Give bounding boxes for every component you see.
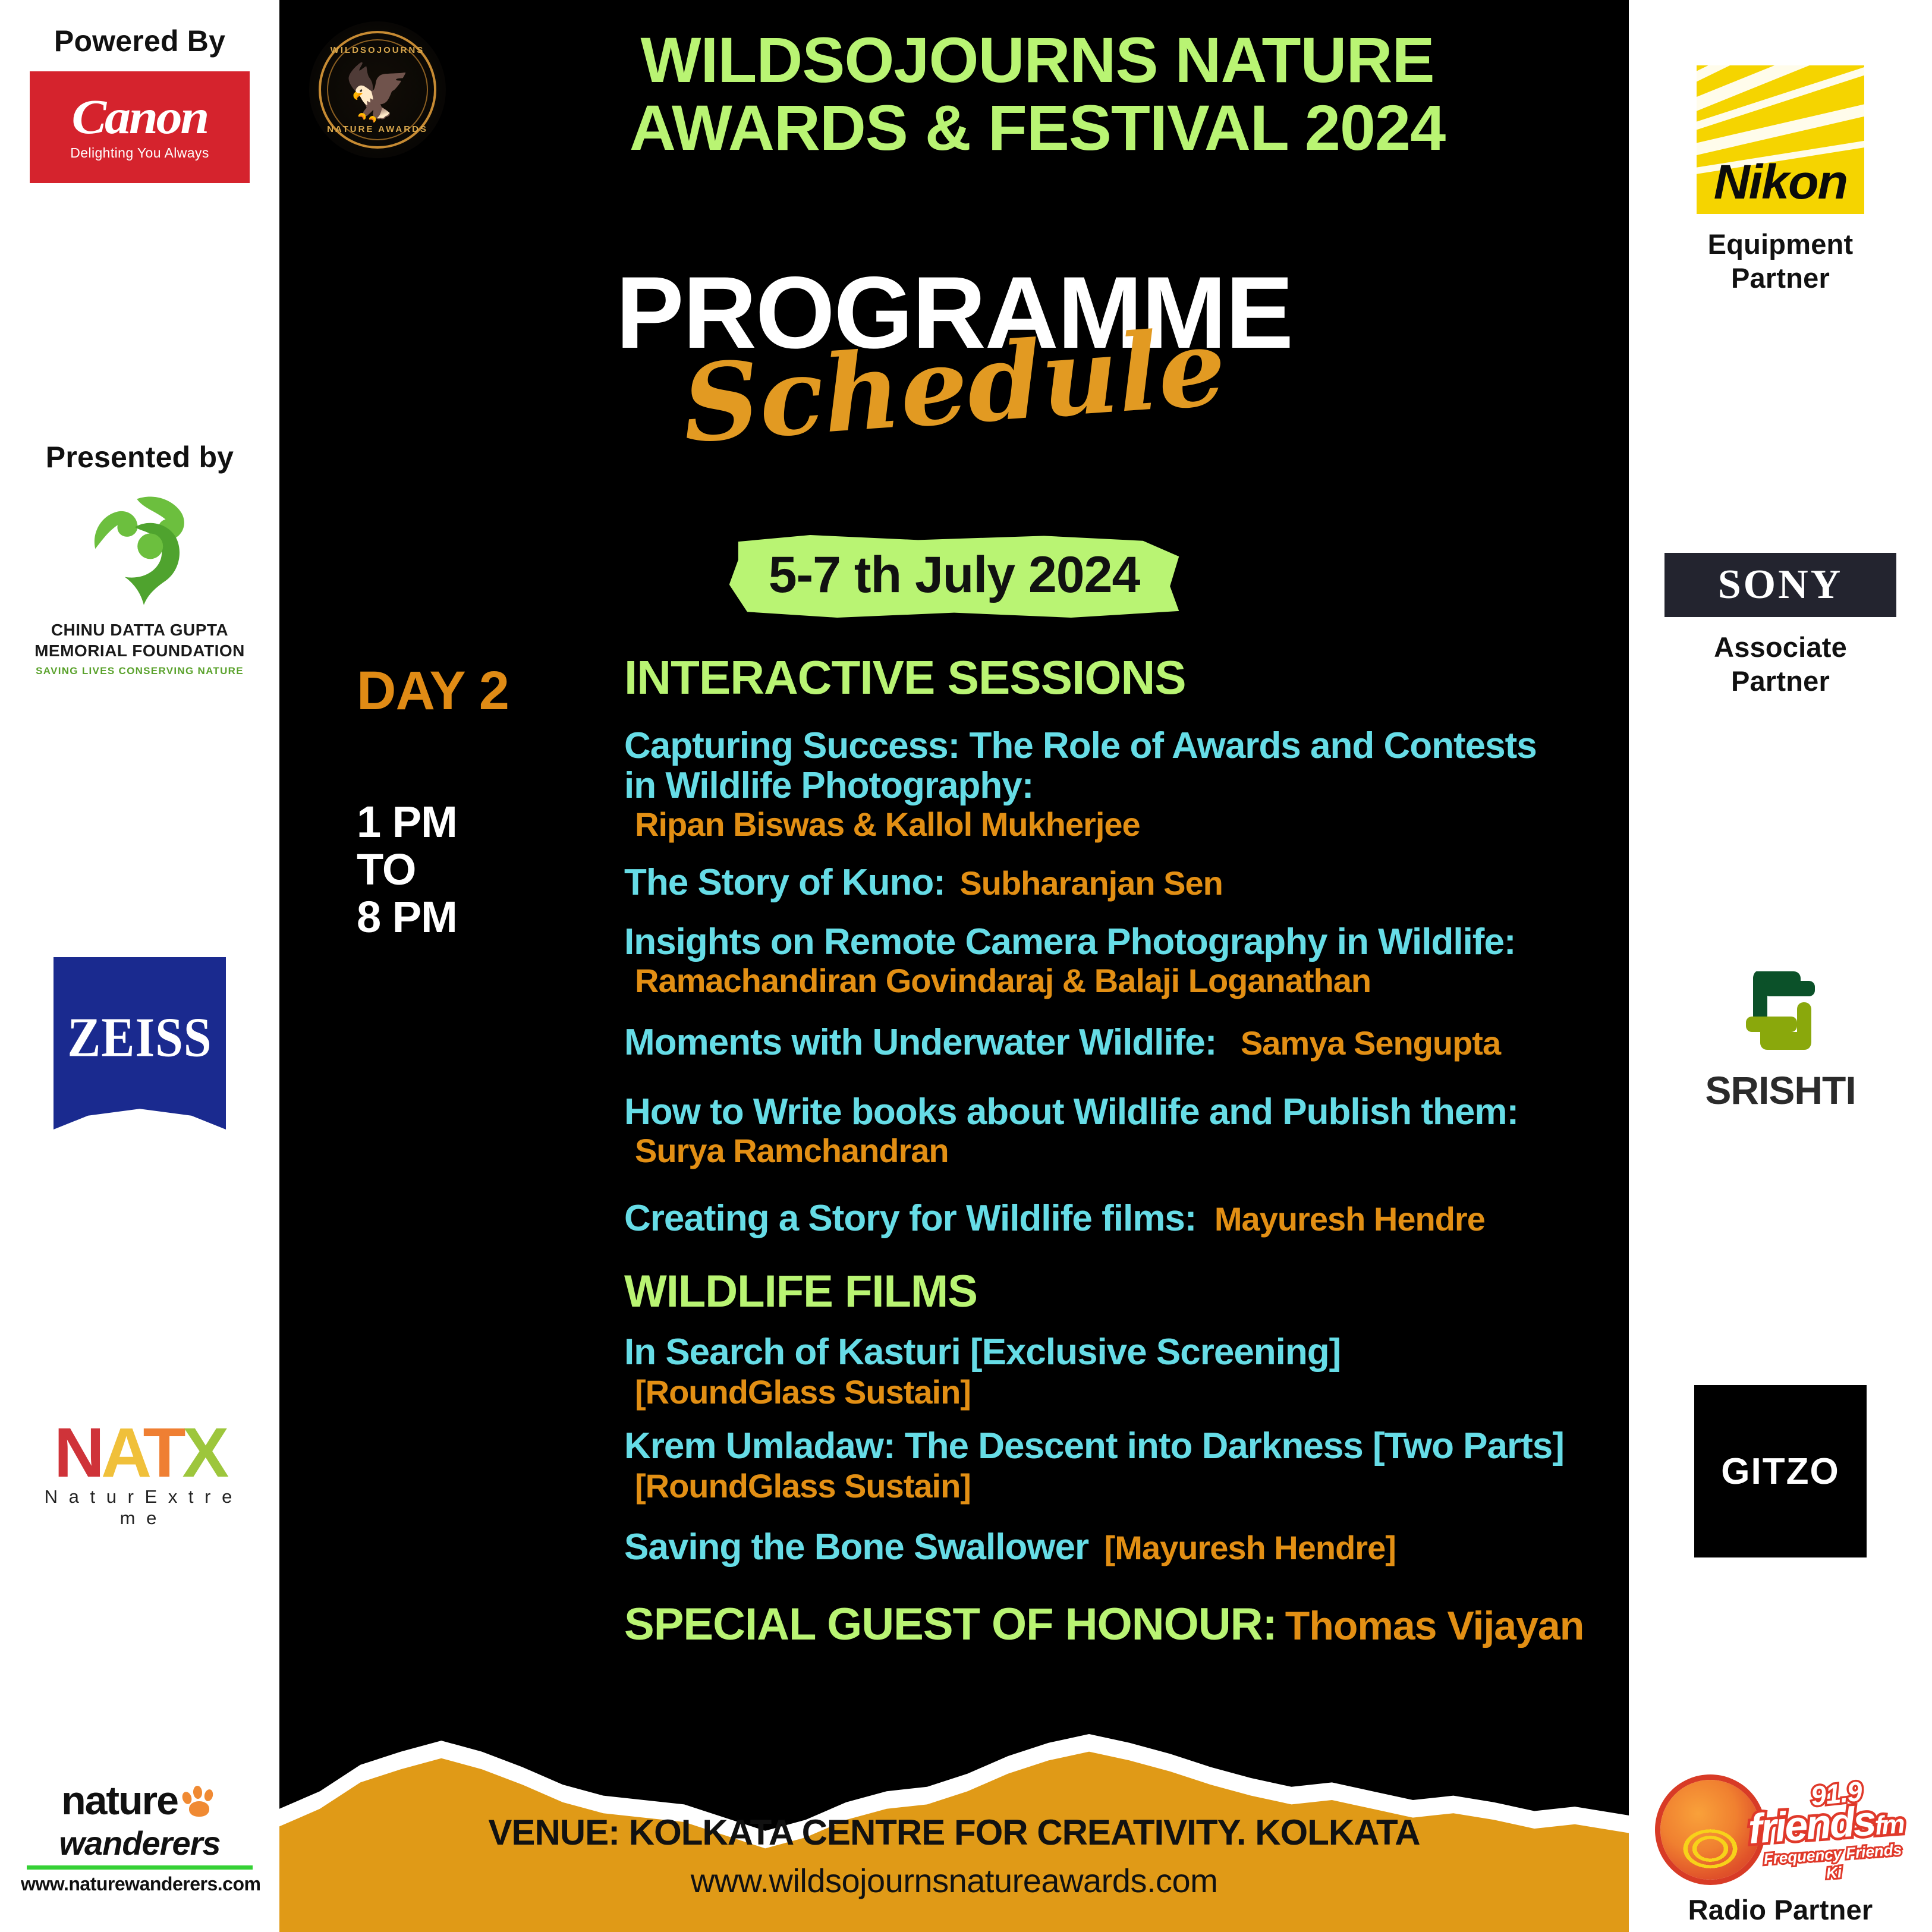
nikon-role-line1: Equipment (1629, 227, 1932, 261)
natx-logo: NATX N a t u r E x t r e m e (33, 1424, 247, 1529)
film-title: Saving the Bone Swallower (624, 1527, 1088, 1568)
cdg-name-line1: CHINU DATTA GUPTA (0, 620, 279, 641)
divider (27, 1865, 253, 1870)
zeiss-wordmark: ZEISS (67, 1005, 212, 1070)
interactive-sessions-heading: INTERACTIVE SESSIONS (624, 654, 1611, 701)
gitzo-logo: GITZO (1694, 1385, 1867, 1557)
sony-wordmark: SONY (1718, 561, 1843, 609)
canon-logo: Canon Delighting You Always (30, 71, 250, 183)
sponsor-friends-fm: 91.9 friendsfm Frequency Friends Ki Radi… (1629, 1771, 1932, 1927)
sponsor-chinu-datta-gupta: Presented by CHINU DATTA GUPTA MEMORIAL … (0, 440, 279, 677)
main-stage: WILDSOJOURNS 🦅 NATURE AWARDS WILDSOJOURN… (279, 0, 1629, 1932)
poster-root: Powered By Canon Delighting You Always P… (0, 0, 1932, 1932)
film-title: In Search of Kasturi [Exclusive Screenin… (624, 1333, 1611, 1373)
time-from: 1 PM (357, 798, 565, 846)
natx-letter-n: N (54, 1414, 101, 1492)
cdg-name-line2: MEMORIAL FOUNDATION (0, 641, 279, 662)
talk-speakers: Ramachandiran Govindaraj & Balaji Logana… (624, 962, 1611, 999)
sessions-column: INTERACTIVE SESSIONS Capturing Success: … (624, 654, 1611, 1650)
wildsojourns-seal-logo: WILDSOJOURNS 🦅 NATURE AWARDS (309, 21, 446, 158)
sony-role: Associate Partner (1629, 630, 1932, 698)
natx-tagline: N a t u r E x t r e m e (33, 1486, 247, 1529)
talk-title: Creating a Story for Wildlife films: (624, 1198, 1196, 1239)
website-url: www.wildsojournsnatureawards.com (279, 1861, 1629, 1900)
talk-item: Moments with Underwater Wildlife: Samya … (624, 1023, 1611, 1063)
time-to-word: TO (357, 846, 565, 893)
srishti-mark-icon (1721, 963, 1840, 1058)
day-badge: DAY 2 (357, 660, 565, 722)
title-line-2: AWARDS & FESTIVAL 2024 (470, 94, 1605, 162)
talk-item: Creating a Story for Wildlife films: May… (624, 1199, 1611, 1239)
sponsor-srishti: SRISHTI (1629, 963, 1932, 1113)
day-time-column: DAY 2 1 PM TO 8 PM (357, 660, 565, 941)
footer-text: VENUE: KOLKATA CENTRE FOR CREATIVITY. KO… (279, 1812, 1629, 1900)
friends-fm-logo: 91.9 friendsfm Frequency Friends Ki (1656, 1771, 1905, 1890)
page-title: WILDSOJOURNS NATURE AWARDS & FESTIVAL 20… (470, 26, 1605, 162)
talk-speakers: Mayuresh Hendre (1214, 1200, 1485, 1238)
friends-fm-text: 91.9 friendsfm Frequency Friends Ki (1746, 1777, 1905, 1882)
cdg-tagline: SAVING LIVES CONSERVING NATURE (0, 665, 279, 677)
talk-item: Insights on Remote Camera Photography in… (624, 923, 1611, 999)
talk-title-cont: in Wildlife Photography: (624, 766, 1611, 806)
talk-item: The Story of Kuno: Subharanjan Sen (624, 863, 1611, 903)
sponsor-sony: SONY Associate Partner (1629, 553, 1932, 698)
event-dates-badge: 5-7 th July 2024 (729, 535, 1179, 618)
sony-role-line1: Associate (1629, 630, 1932, 664)
film-item: Krem Umladaw: The Descent into Darkness … (624, 1427, 1611, 1505)
special-guest-name: Thomas Vijayan (1285, 1603, 1584, 1648)
phoenix-bird-icon: 🦅 (344, 65, 412, 120)
nikon-role-line2: Partner (1629, 261, 1932, 295)
sponsor-canon: Powered By Canon Delighting You Always (0, 24, 279, 183)
seal-bottom-text: NATURE AWARDS (309, 124, 446, 134)
talk-speakers: Subharanjan Sen (959, 864, 1222, 902)
talk-speakers: Samya Sengupta (1241, 1024, 1500, 1062)
nikon-role: Equipment Partner (1629, 227, 1932, 295)
natx-letter-x: X (182, 1414, 226, 1492)
srishti-wordmark: SRISHTI (1682, 1068, 1878, 1113)
wildlife-films-heading: WILDLIFE FILMS (624, 1266, 1611, 1317)
film-source: [RoundGlass Sustain] (624, 1373, 1611, 1411)
presented-by-label: Presented by (0, 440, 279, 474)
wanderers-wordmark: wanderers (21, 1824, 259, 1862)
sony-role-line2: Partner (1629, 664, 1932, 698)
friends-fm-role: Radio Partner (1629, 1893, 1932, 1927)
seal-top-text: WILDSOJOURNS (309, 45, 446, 55)
talk-title: Insights on Remote Camera Photography in… (624, 923, 1611, 962)
film-item: Saving the Bone Swallower [Mayuresh Hend… (624, 1528, 1611, 1568)
nikon-wordmark: Nikon (1714, 155, 1847, 210)
nikon-logo: Nikon (1697, 65, 1864, 214)
canon-wordmark: Canon (72, 93, 208, 140)
right-sponsor-sidebar: Nikon Equipment Partner SONY Associate P… (1629, 0, 1932, 1932)
radio-disc-icon (1660, 1780, 1760, 1880)
sponsor-gitzo: GITZO (1629, 1385, 1932, 1557)
special-guest-label: SPECIAL GUEST OF HONOUR: (624, 1599, 1277, 1650)
powered-by-label: Powered By (0, 24, 279, 58)
sponsor-nikon: Nikon Equipment Partner (1629, 65, 1932, 295)
sponsor-natx: NATX N a t u r E x t r e m e (0, 1424, 279, 1529)
film-source: [Mayuresh Hendre] (1105, 1529, 1396, 1566)
canon-tagline: Delighting You Always (70, 145, 209, 161)
talk-speakers: Ripan Biswas & Kallol Mukherjee (624, 806, 1611, 843)
fm-word: fm (1874, 1810, 1904, 1840)
paw-print-icon (181, 1786, 218, 1818)
talk-item: Capturing Success: The Role of Awards an… (624, 726, 1611, 843)
time-until: 8 PM (357, 893, 565, 941)
film-item: In Search of Kasturi [Exclusive Screenin… (624, 1333, 1611, 1411)
special-guest-row: SPECIAL GUEST OF HONOUR:Thomas Vijayan (624, 1599, 1611, 1650)
film-title: Krem Umladaw: The Descent into Darkness … (624, 1427, 1611, 1467)
sponsor-nature-wanderers: nature wanderers www.naturewanderers.com (0, 1777, 279, 1895)
nature-word: nature (61, 1778, 178, 1823)
talk-title: How to Write books about Wildlife and Pu… (624, 1093, 1611, 1132)
natx-letter-a: A (101, 1414, 143, 1492)
talk-speakers: Surya Ramchandran (624, 1132, 1611, 1169)
gitzo-wordmark: GITZO (1721, 1450, 1839, 1493)
sony-logo: SONY (1664, 553, 1896, 617)
talk-item: How to Write books about Wildlife and Pu… (624, 1093, 1611, 1169)
talk-title: Moments with Underwater Wildlife: (624, 1022, 1216, 1063)
natx-wordmark: NATX (33, 1424, 247, 1483)
srishti-logo: SRISHTI (1682, 963, 1878, 1113)
film-source: [RoundGlass Sustain] (624, 1467, 1611, 1505)
nature-wanderers-logo: nature wanderers www.naturewanderers.com (21, 1777, 259, 1895)
zeiss-logo: ZEISS (54, 957, 226, 1129)
sponsor-zeiss: ZEISS (0, 957, 279, 1129)
nature-wanderers-url: www.naturewanderers.com (21, 1873, 259, 1895)
leaf-person-icon (76, 487, 204, 615)
title-line-1: WILDSOJOURNS NATURE (470, 26, 1605, 94)
time-range: 1 PM TO 8 PM (357, 798, 565, 941)
left-sponsor-sidebar: Powered By Canon Delighting You Always P… (0, 0, 279, 1932)
event-dates: 5-7 th July 2024 (769, 546, 1140, 603)
talk-title: The Story of Kuno: (624, 862, 945, 903)
venue-line: VENUE: KOLKATA CENTRE FOR CREATIVITY. KO… (279, 1812, 1629, 1853)
natx-letter-t: T (143, 1414, 182, 1492)
nature-wordmark: nature (61, 1777, 218, 1824)
talk-title: Capturing Success: The Role of Awards an… (624, 726, 1611, 766)
